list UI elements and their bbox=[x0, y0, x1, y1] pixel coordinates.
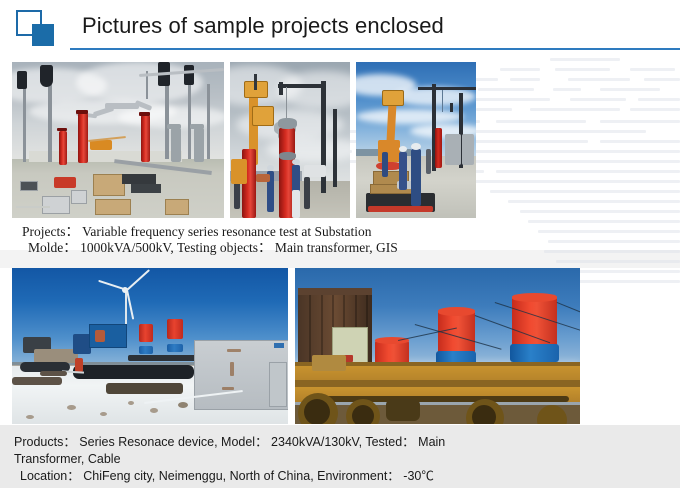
bottom-caption-line-1: Products： Series Resonace device, Model：… bbox=[14, 434, 574, 451]
page-title: Pictures of sample projects enclosed bbox=[82, 13, 444, 39]
company-logo-icon bbox=[16, 10, 60, 46]
photo-trailer-reactors bbox=[295, 268, 580, 424]
bottom-caption-line-3: Location： ChiFeng city, Neimenggu, North… bbox=[14, 468, 574, 485]
bottom-caption: Products： Series Resonace device, Model：… bbox=[14, 434, 574, 485]
slide: Pictures of sample projects enclosed bbox=[0, 0, 680, 488]
photo-substation-resonance-test bbox=[12, 62, 224, 218]
slide-header: Pictures of sample projects enclosed bbox=[0, 0, 680, 52]
bottom-caption-line-2: Transformer, Cable bbox=[14, 451, 574, 468]
photo-crane-lifting-bushing bbox=[230, 62, 350, 218]
logo-filled-square bbox=[32, 24, 54, 46]
photo-snow-site-container bbox=[12, 268, 288, 424]
top-caption: Projects： Variable frequency series reso… bbox=[22, 224, 522, 256]
title-divider bbox=[70, 48, 680, 50]
photo-site-crane-trailer bbox=[356, 62, 476, 218]
top-caption-line-1: Projects： Variable frequency series reso… bbox=[22, 224, 522, 240]
top-caption-line-2: Molde： 1000kVA/500kV, Testing objects： M… bbox=[22, 240, 522, 256]
